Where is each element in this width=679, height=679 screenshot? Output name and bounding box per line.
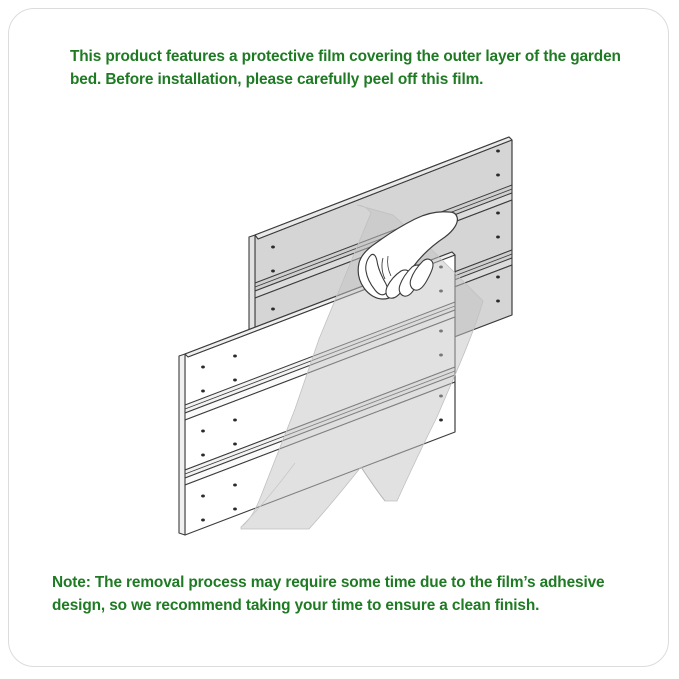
note-instruction-text: Note: The removal process may require so… xyxy=(52,571,632,617)
front-left-flange xyxy=(179,354,185,535)
instruction-card: This product features a protective film … xyxy=(8,8,669,667)
garden-bed-film-peel-illustration xyxy=(9,9,669,667)
